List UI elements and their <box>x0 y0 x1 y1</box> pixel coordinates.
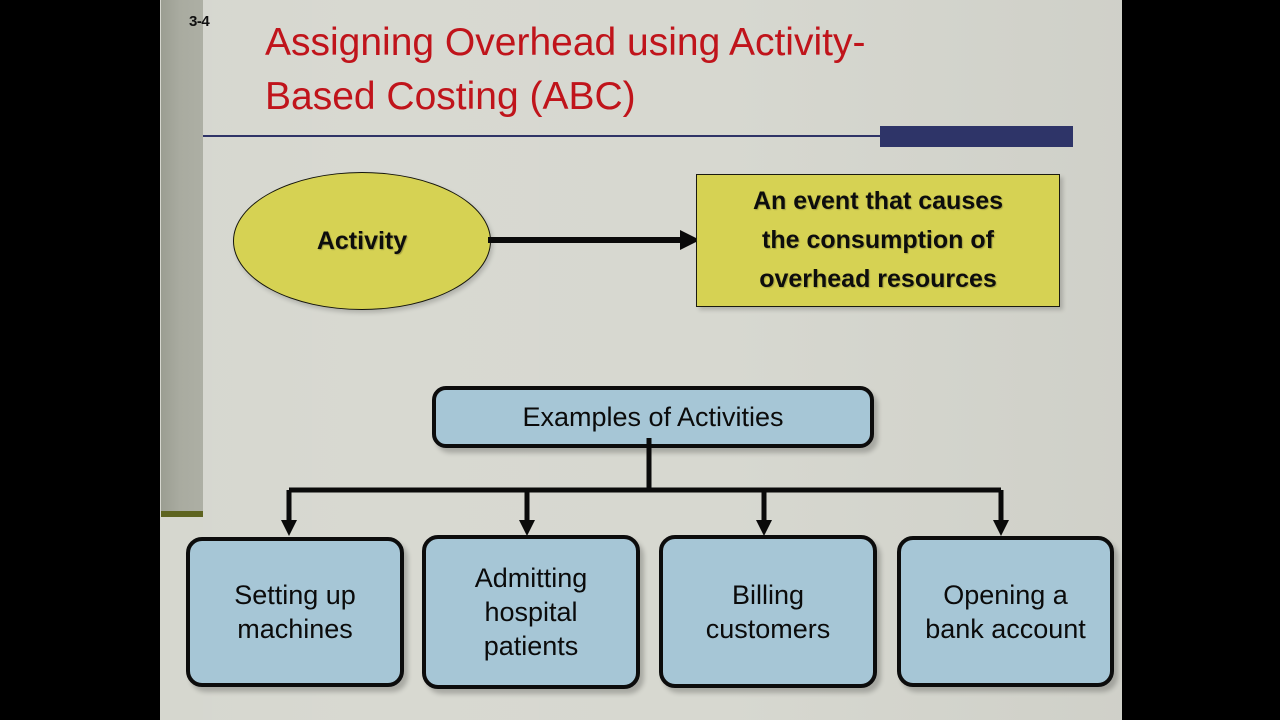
example-item-label: Setting up machines <box>234 578 356 646</box>
examples-of-activities-label: Examples of Activities <box>522 400 783 434</box>
slide-canvas: 3-4 Assigning Overhead using Activity- B… <box>160 0 1122 720</box>
tree-connector-lines <box>160 430 1122 545</box>
example-item-box: Opening a bank account <box>897 536 1114 687</box>
slide-number: 3-4 <box>189 13 209 30</box>
definition-node-text: An event that causes the consumption of … <box>753 182 1003 299</box>
example-item-box: Setting up machines <box>186 537 404 687</box>
definition-node: An event that causes the consumption of … <box>696 174 1060 307</box>
example-item-box: Admitting hospital patients <box>422 535 640 689</box>
page-title: Assigning Overhead using Activity- Based… <box>265 16 1025 124</box>
activity-node-label: Activity <box>317 227 407 256</box>
activity-node: Activity <box>233 172 491 310</box>
example-item-label: Admitting hospital patients <box>475 561 588 663</box>
header-accent-block <box>880 126 1073 147</box>
example-item-label: Opening a bank account <box>925 578 1086 646</box>
example-item-box: Billing customers <box>659 535 877 688</box>
screen: 3-4 Assigning Overhead using Activity- B… <box>0 0 1280 720</box>
arrow-activity-to-definition <box>488 228 700 252</box>
example-item-label: Billing customers <box>706 578 831 646</box>
